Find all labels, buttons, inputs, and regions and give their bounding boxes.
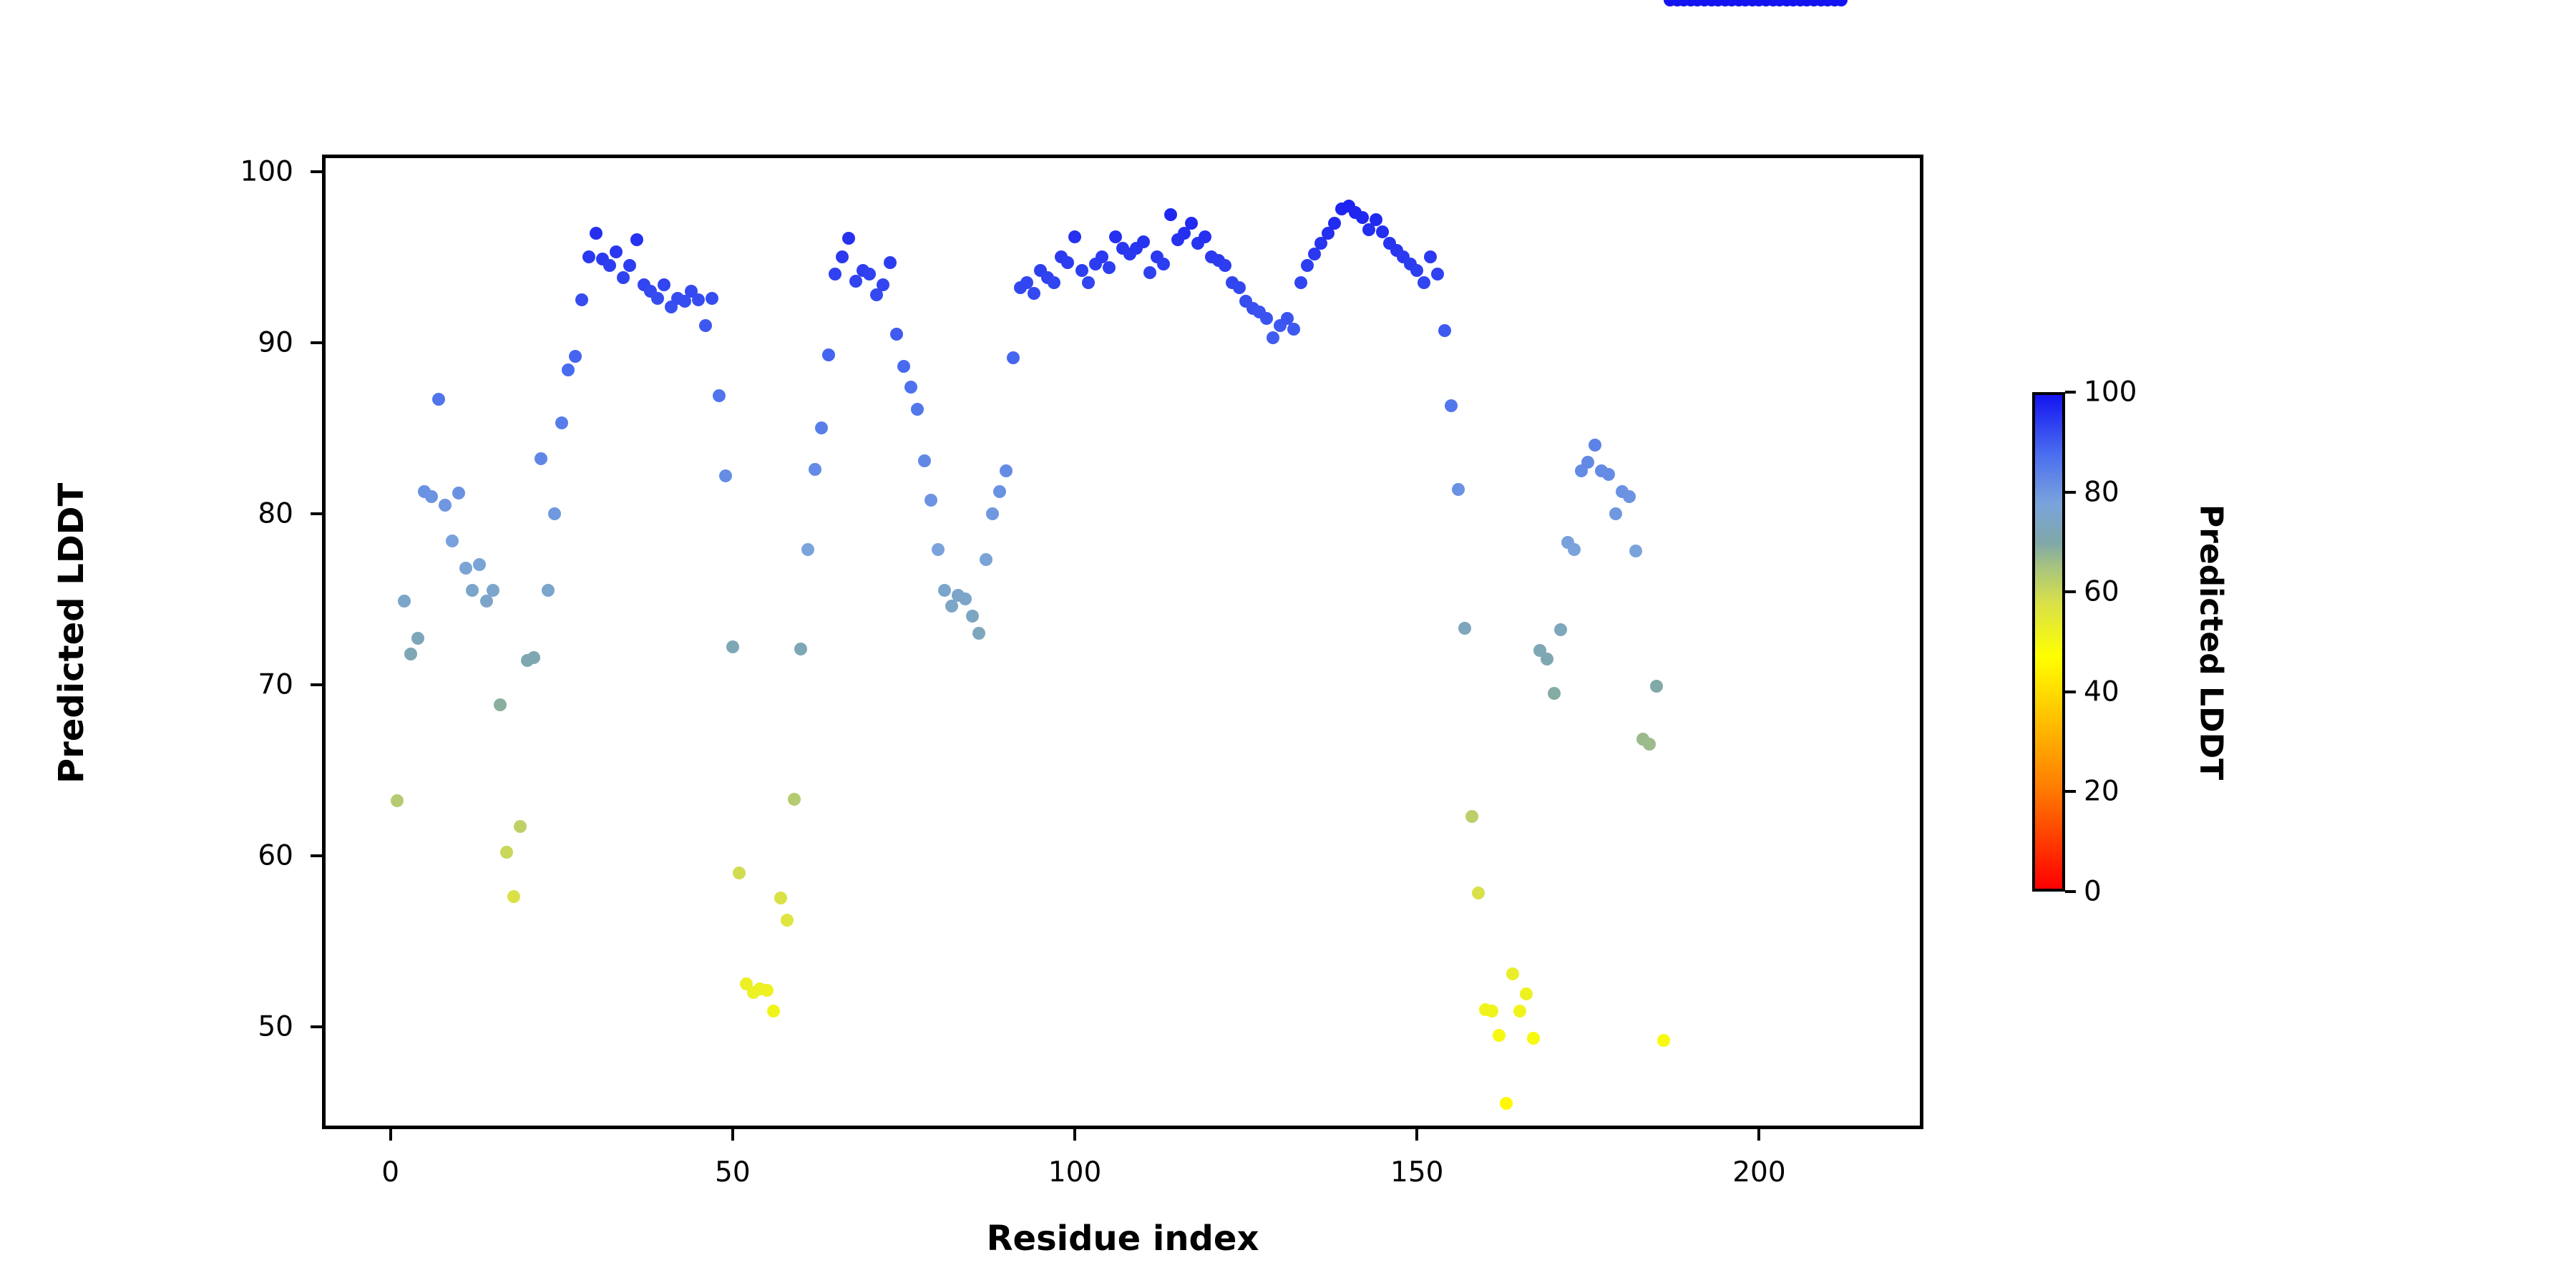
scatter-point <box>884 256 897 269</box>
scatter-point <box>473 558 486 571</box>
scatter-point <box>1061 256 1074 269</box>
scatter-point <box>1185 217 1198 230</box>
x-tick-label: 100 <box>1048 1156 1101 1189</box>
scatter-point <box>1328 217 1341 230</box>
scatter-point <box>1493 1029 1506 1042</box>
scatter-point <box>733 867 746 879</box>
x-tick-mark <box>731 1129 734 1141</box>
scatter-point <box>904 381 917 394</box>
colorbar-tick-label: 20 <box>2084 776 2119 808</box>
colorbar <box>2032 392 2065 892</box>
scatter-point <box>391 794 404 807</box>
y-tick-label: 90 <box>172 326 293 358</box>
scatter-point <box>651 292 664 305</box>
scatter-point <box>1445 399 1458 412</box>
scatter-point <box>1589 439 1601 452</box>
scatter-point <box>1500 1097 1513 1110</box>
scatter-point <box>432 393 445 406</box>
scatter-point <box>1424 250 1437 263</box>
scatter-point <box>562 364 575 376</box>
scatter-point <box>1520 987 1533 1000</box>
scatter-point <box>1438 324 1451 337</box>
scatter-point <box>986 507 999 520</box>
scatter-point <box>630 233 643 246</box>
scatter-point <box>863 268 876 280</box>
scatter-point <box>507 890 520 903</box>
scatter-point <box>1513 1005 1526 1018</box>
x-tick-mark <box>389 1129 392 1141</box>
scatter-point <box>959 592 972 605</box>
colorbar-tick-label: 80 <box>2084 476 2119 508</box>
scatter-point <box>761 984 774 997</box>
scatter-point <box>411 632 424 645</box>
scatter-point <box>842 232 855 245</box>
scatter-point <box>924 494 937 507</box>
y-tick-label: 80 <box>172 497 293 530</box>
x-tick-mark <box>1757 1129 1760 1141</box>
scatter-point <box>1082 276 1095 289</box>
scatter-point <box>494 698 507 711</box>
scatter-point <box>719 469 732 482</box>
scatter-point <box>459 562 472 575</box>
scatter-point <box>1465 810 1478 823</box>
scatter-point <box>1370 213 1382 226</box>
y-tick-label: 70 <box>172 668 293 701</box>
scatter-point <box>1485 1005 1498 1018</box>
x-tick-mark <box>1073 1129 1076 1141</box>
scatter-point <box>1623 490 1636 503</box>
scatter-point <box>1143 266 1156 279</box>
scatter-point <box>446 535 459 547</box>
x-tick-label: 50 <box>715 1156 751 1189</box>
scatter-point <box>1554 623 1567 636</box>
colorbar-tick-mark <box>2065 890 2076 893</box>
scatter-point <box>1609 507 1622 520</box>
scatter-point <box>535 452 547 465</box>
scatter-point <box>617 271 630 284</box>
scatter-point <box>1103 261 1116 274</box>
scatter-point <box>1137 235 1150 248</box>
scatter-point <box>1418 276 1430 289</box>
scatter-point <box>623 259 636 272</box>
scatter-point <box>1458 622 1471 635</box>
colorbar-title: Predicted LDDT <box>2193 492 2230 793</box>
scatter-point <box>1506 967 1519 980</box>
colorbar-tick-label: 40 <box>2084 675 2119 708</box>
y-tick-label: 100 <box>172 155 293 187</box>
scatter-point <box>877 278 889 291</box>
colorbar-tick-mark <box>2065 590 2076 593</box>
y-tick-mark <box>311 1025 322 1028</box>
scatter-point <box>1260 312 1273 325</box>
y-tick-mark <box>311 683 322 686</box>
scatter-point <box>829 268 841 280</box>
scatter-point <box>767 1005 780 1018</box>
colorbar-gradient <box>2035 395 2062 889</box>
scatter-point <box>1376 225 1389 238</box>
scatter-point <box>1410 264 1423 277</box>
scatter-point <box>1581 456 1594 469</box>
y-axis-title: Predicted LDDT <box>52 497 92 784</box>
scatter-point <box>569 350 582 363</box>
x-tick-mark <box>1415 1129 1418 1141</box>
scatter-point <box>1109 230 1122 243</box>
scatter-point <box>809 463 821 476</box>
scatter-point <box>1452 483 1465 496</box>
scatter-point <box>932 543 945 556</box>
scatter-point <box>1164 208 1177 221</box>
scatter-point <box>822 348 835 361</box>
scatter-point <box>1356 211 1369 224</box>
scatter-point <box>1294 276 1307 289</box>
scatter-point <box>452 487 465 499</box>
scatter-point <box>658 278 670 291</box>
scatter-point <box>1068 230 1081 243</box>
scatter-point <box>836 250 849 263</box>
scatter-point <box>993 485 1006 498</box>
scatter-point <box>890 328 903 341</box>
y-tick-mark <box>311 854 322 857</box>
y-tick-mark <box>311 512 322 515</box>
scatter-point <box>1007 351 1020 364</box>
scatter-point <box>582 250 595 263</box>
colorbar-tick-mark <box>2065 790 2076 793</box>
scatter-point <box>1541 653 1553 665</box>
colorbar-tick-label: 0 <box>2084 876 2102 908</box>
scatter-point <box>1301 259 1314 272</box>
scatter-point <box>487 584 499 597</box>
scatter-point <box>774 892 787 904</box>
scatter-point <box>1028 287 1040 300</box>
y-tick-label: 60 <box>172 839 293 872</box>
scatter-point <box>1629 545 1642 557</box>
colorbar-tick-label: 100 <box>2084 376 2137 409</box>
figure-canvas: 5060708090100 050100150200 Residue index… <box>0 0 2576 1288</box>
y-tick-mark <box>311 170 322 173</box>
scatter-point <box>1431 268 1444 280</box>
scatter-point <box>1650 680 1663 693</box>
scatter-point <box>788 793 801 806</box>
scatter-point <box>610 245 623 258</box>
colorbar-tick-mark <box>2065 691 2076 693</box>
y-tick-mark <box>311 341 322 344</box>
scatter-point <box>794 643 807 655</box>
scatter-point <box>706 292 718 305</box>
scatter-point <box>514 820 527 833</box>
scatter-point <box>1568 543 1581 556</box>
x-tick-label: 200 <box>1732 1156 1785 1189</box>
scatter-point <box>466 584 479 597</box>
scatter-point <box>726 640 739 653</box>
scatter-point <box>1548 687 1561 700</box>
scatter-point <box>692 293 705 306</box>
scatter-point <box>897 360 910 373</box>
colorbar-tick-label: 60 <box>2084 576 2119 608</box>
scatter-point <box>500 846 513 859</box>
scatter-point <box>801 543 814 556</box>
scatter-point <box>980 553 992 566</box>
scatter-point <box>1000 464 1013 477</box>
colorbar-tick-mark <box>2065 491 2076 494</box>
scatter-point <box>590 227 602 240</box>
scatter-point <box>713 389 726 402</box>
y-tick-label: 50 <box>172 1010 293 1043</box>
scatter-point <box>938 584 951 597</box>
scatter-point <box>575 293 588 306</box>
scatter-point <box>542 584 555 597</box>
scatter-point <box>555 416 568 429</box>
scatter-point <box>966 610 979 623</box>
x-axis-title: Residue index <box>987 1219 1259 1259</box>
colorbar-tick-mark <box>2065 391 2076 394</box>
scatter-point <box>781 914 794 927</box>
scatter-point <box>972 627 985 640</box>
scatter-point <box>1157 258 1170 270</box>
scatter-point <box>1657 1034 1670 1047</box>
scatter-point <box>439 499 452 512</box>
scatter-point <box>398 595 411 608</box>
scatter-point <box>1233 281 1246 294</box>
scatter-point <box>1075 264 1088 277</box>
scatter-point <box>918 454 931 467</box>
x-tick-label: 0 <box>381 1156 399 1189</box>
scatter-point <box>527 651 540 664</box>
scatter-point <box>1527 1032 1540 1045</box>
scatter-point <box>1602 468 1615 481</box>
scatter-point <box>699 319 712 332</box>
scatter-point <box>1199 230 1211 243</box>
x-tick-label: 150 <box>1390 1156 1443 1189</box>
scatter-point <box>1643 738 1656 751</box>
scatter-point <box>1267 331 1279 344</box>
plot-axes-frame <box>322 155 1923 1129</box>
scatter-point <box>1472 887 1485 899</box>
scatter-point <box>548 507 561 520</box>
scatter-point <box>1048 276 1060 289</box>
scatter-point <box>603 259 616 272</box>
scatter-point <box>911 403 924 416</box>
scatter-point <box>425 490 438 503</box>
scatter-point <box>404 648 417 660</box>
scatter-point <box>1219 259 1231 272</box>
scatter-point <box>1287 323 1300 336</box>
scatter-point <box>815 421 828 434</box>
